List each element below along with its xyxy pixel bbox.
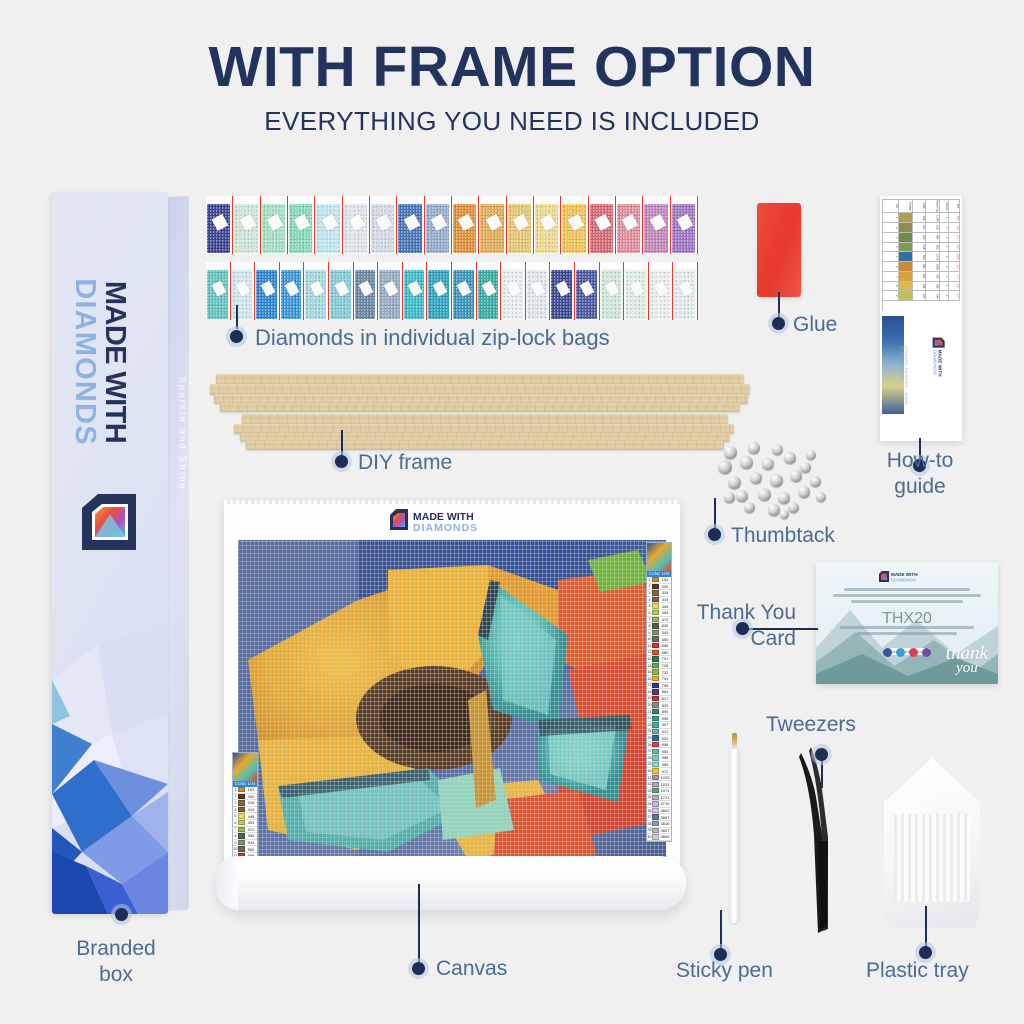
color-list-row: 331071 bbox=[647, 788, 671, 795]
tiktok-icon bbox=[922, 648, 931, 657]
zip-lock-bag bbox=[671, 196, 698, 254]
guide-cell-boxes: 1 bbox=[940, 243, 949, 253]
guide-cell-dmc: 400 bbox=[913, 233, 927, 243]
color-list-thumbnail-left bbox=[233, 753, 257, 781]
zip-lock-bag bbox=[343, 196, 370, 254]
color-row-swatch bbox=[652, 801, 659, 806]
page-subtitle: EVERYTHING YOU NEED IS INCLUDED bbox=[0, 106, 1024, 137]
label-glue: Glue bbox=[793, 312, 837, 338]
label-thank-you-card: Thank You Card bbox=[672, 600, 796, 652]
callout-dot-tweezers bbox=[815, 748, 828, 761]
color-row-swatch bbox=[652, 617, 659, 622]
color-row-swatch bbox=[652, 603, 659, 608]
guide-cell-dmc: 168 bbox=[913, 213, 927, 223]
thumbtack bbox=[748, 442, 760, 454]
color-list-row: 23907 bbox=[647, 722, 671, 729]
thumbtack-head bbox=[762, 458, 774, 470]
color-row-code: 300 bbox=[245, 794, 257, 799]
zip-lock-bag bbox=[550, 262, 575, 320]
label-how-to-guide: How-to guide bbox=[862, 448, 978, 500]
thumbtack-head bbox=[768, 504, 780, 516]
guide-cell-no: 5 bbox=[883, 252, 899, 262]
callout-dot-branded-box bbox=[115, 908, 128, 921]
color-row-code: 954 bbox=[659, 749, 671, 754]
color-row-code: 550 bbox=[245, 847, 257, 852]
guide-table-row: 451883214.2 bbox=[883, 243, 960, 253]
color-row-swatch bbox=[652, 735, 659, 740]
color-list-row: 15732 bbox=[647, 669, 671, 676]
color-row-code: 3802 bbox=[659, 808, 671, 813]
guide-cell-swatch bbox=[899, 282, 913, 292]
color-row-code: 543 bbox=[659, 630, 671, 635]
thank-you-card: MADE WITH DIAMONDS THX20 @madewithdiamon… bbox=[816, 562, 998, 684]
zip-lock-bag bbox=[280, 262, 305, 320]
zip-lock-bag bbox=[261, 196, 288, 254]
guide-cell-qty: 128 bbox=[926, 223, 940, 233]
color-row-code: 318 bbox=[659, 590, 671, 595]
color-row-code: 152 bbox=[245, 787, 257, 792]
color-row-code: 1071 bbox=[659, 788, 671, 793]
zip-lock-bag bbox=[231, 262, 256, 320]
guide-header-cell: NO. bbox=[883, 200, 899, 213]
thumbtack bbox=[772, 444, 783, 455]
color-row-code: 1721 bbox=[659, 795, 671, 800]
color-row-code: 3827 bbox=[659, 828, 671, 833]
card-thank-you-script: thank you bbox=[946, 646, 988, 676]
color-list-thumbnail-right bbox=[647, 543, 671, 571]
color-row-swatch bbox=[238, 846, 245, 851]
color-row-code: 741 bbox=[659, 676, 671, 681]
color-row-code: 318 bbox=[245, 800, 257, 805]
color-row-code: 959 bbox=[659, 762, 671, 767]
guide-cell-wt: 9.3 bbox=[949, 262, 960, 272]
guide-cell-boxes: 1 bbox=[940, 291, 949, 301]
plastic-tray bbox=[884, 758, 980, 928]
canvas-rolled-edge bbox=[216, 856, 686, 910]
thumbtack-head bbox=[728, 476, 741, 489]
guide-cell-no: 6 bbox=[883, 262, 899, 272]
label-plastic-tray: Plastic tray bbox=[866, 958, 969, 984]
thumbtack-head bbox=[798, 486, 810, 498]
color-list-row: 20825 bbox=[647, 702, 671, 709]
color-list-row: 17796 bbox=[647, 683, 671, 690]
color-row-swatch bbox=[238, 827, 245, 832]
guide-header-cell: DMC bbox=[913, 200, 927, 213]
thumbtack-head bbox=[788, 502, 799, 513]
guide-cell-wt: 6.8 bbox=[949, 213, 960, 223]
thumbtack-head bbox=[750, 472, 762, 484]
color-list-row: 11656 bbox=[647, 643, 671, 650]
color-list-row: 10550 bbox=[233, 846, 257, 853]
color-list-row: 22906 bbox=[647, 715, 671, 722]
zip-lock-bag bbox=[378, 262, 403, 320]
color-list-row: 24912 bbox=[647, 729, 671, 736]
box-brand-text: MADE WITH DIAMONDS bbox=[90, 252, 130, 472]
guide-cell-no: 7 bbox=[883, 272, 899, 282]
thumbtack bbox=[810, 476, 821, 487]
guide-table-row: 55902,144210.8 bbox=[883, 252, 960, 262]
thumbtack bbox=[724, 492, 735, 503]
color-list-row: 9543 bbox=[647, 630, 671, 637]
guide-cell-wt: 1.5 bbox=[949, 282, 960, 292]
color-row-code: 3806 bbox=[659, 834, 671, 839]
guide-cell-swatch bbox=[899, 262, 913, 272]
label-thumbtack: Thumbtack bbox=[731, 523, 835, 549]
leader-tweezers bbox=[821, 760, 823, 788]
svg-text:DIAMONDS: DIAMONDS bbox=[891, 577, 916, 582]
color-row-swatch bbox=[652, 768, 659, 773]
thumbtack bbox=[758, 488, 771, 501]
color-list-row: 14728 bbox=[647, 663, 671, 670]
sticky-pen bbox=[728, 733, 741, 929]
color-row-swatch bbox=[652, 676, 659, 681]
guide-cell-swatch bbox=[899, 243, 913, 253]
color-row-swatch bbox=[652, 663, 659, 668]
color-list-row: 5445 bbox=[647, 603, 671, 610]
guide-header-cell: Symbol bbox=[899, 200, 913, 213]
thumbtack-head bbox=[718, 460, 732, 474]
label-branded-box: Branded box bbox=[46, 936, 186, 988]
thumbtack bbox=[768, 504, 780, 516]
zip-lock-bag bbox=[206, 196, 233, 254]
color-list-row: 3318 bbox=[647, 590, 671, 597]
color-list-row: 25920 bbox=[647, 735, 671, 742]
color-list-row: 4414 bbox=[233, 807, 257, 814]
color-row-code: 453 bbox=[659, 610, 671, 615]
zip-lock-bag bbox=[255, 262, 280, 320]
box-tagline: Sparkle and Shine bbox=[177, 373, 188, 494]
color-row-code: 550 bbox=[659, 637, 671, 642]
zip-lock-bag bbox=[600, 262, 625, 320]
thumbtack bbox=[770, 474, 783, 487]
color-row-swatch bbox=[652, 656, 659, 661]
guide-cell-qty: 1,344 bbox=[926, 213, 940, 223]
guide-cell-swatch bbox=[899, 213, 913, 223]
guide-cell-dmc: 371 bbox=[913, 223, 927, 233]
thumbtack-head bbox=[780, 510, 789, 519]
zip-lock-bag bbox=[575, 262, 600, 320]
color-list-row: 21890 bbox=[647, 709, 671, 716]
how-to-guide: NO.SymbolDMCRound QtyBoxesWT11681,34416.… bbox=[880, 196, 962, 441]
color-list-row: 19817 bbox=[647, 696, 671, 703]
guide-cell-dmc: 946 bbox=[913, 282, 927, 292]
color-row-swatch bbox=[652, 650, 659, 655]
guide-cell-qty: 298 bbox=[926, 282, 940, 292]
color-row-swatch bbox=[652, 729, 659, 734]
leader-diamond-bags bbox=[236, 305, 238, 329]
guide-cell-no: 9 bbox=[883, 291, 899, 301]
color-row-swatch bbox=[238, 813, 245, 818]
color-row-code: 1012 bbox=[659, 782, 671, 787]
leader-canvas bbox=[418, 884, 420, 962]
color-row-code: 958 bbox=[659, 755, 671, 760]
color-row-code: 796 bbox=[659, 683, 671, 688]
thumbtack-head bbox=[758, 488, 771, 501]
color-row-code: 535 bbox=[659, 623, 671, 628]
color-row-code: 3715 bbox=[659, 801, 671, 806]
color-list-row: 383816 bbox=[647, 821, 671, 828]
color-list-row: 27954 bbox=[647, 748, 671, 755]
color-list-row: 3318 bbox=[233, 800, 257, 807]
guide-cell-qty: 2,144 bbox=[926, 252, 940, 262]
zip-lock-bag bbox=[233, 196, 260, 254]
thumbtack-head bbox=[790, 470, 802, 482]
svg-text:MADE WITH: MADE WITH bbox=[938, 350, 943, 377]
guide-table-row: 237112810.6 bbox=[883, 223, 960, 233]
color-list-row: 4414 bbox=[647, 597, 671, 604]
color-list-row: 2300 bbox=[233, 794, 257, 801]
branded-box-side: Sparkle and Shine bbox=[168, 196, 189, 911]
color-row-swatch bbox=[652, 755, 659, 760]
thumbtack-head bbox=[816, 492, 826, 502]
thumbtack-head bbox=[736, 490, 748, 502]
leader-plastic-tray bbox=[925, 906, 927, 948]
guide-table-row: 761334011.7 bbox=[883, 272, 960, 282]
canvas-sheet: MADE WITH DIAMONDS bbox=[224, 500, 680, 868]
thumbtack-head bbox=[772, 444, 783, 455]
thumbtack bbox=[718, 460, 732, 474]
guide-header-cell: Round Qty bbox=[926, 200, 940, 213]
color-row-swatch bbox=[652, 782, 659, 787]
thumbtack bbox=[780, 510, 789, 519]
thumbtack bbox=[750, 472, 762, 484]
color-list-row: 5445 bbox=[233, 813, 257, 820]
guide-cell-boxes: 2 bbox=[940, 262, 949, 272]
glue-item bbox=[757, 203, 801, 297]
color-list-row: 18854 bbox=[647, 689, 671, 696]
color-row-swatch bbox=[652, 821, 659, 826]
thumbtack-head bbox=[770, 474, 783, 487]
color-row-code: 680 bbox=[659, 650, 671, 655]
callout-dot-glue bbox=[772, 317, 785, 330]
color-row-swatch bbox=[652, 590, 659, 595]
color-list-row: 6453 bbox=[233, 820, 257, 827]
box-brand-line2: DIAMONDS bbox=[70, 252, 100, 472]
thumbtack bbox=[798, 486, 810, 498]
zip-lock-bag bbox=[534, 196, 561, 254]
card-message bbox=[830, 588, 984, 606]
color-list-right: Color List 11522300331844145445645374728… bbox=[646, 542, 672, 842]
color-row-code: 817 bbox=[659, 696, 671, 701]
color-row-swatch bbox=[652, 795, 659, 800]
color-row-code: 535 bbox=[245, 833, 257, 838]
color-list-rows-right: 1152230033184414544564537472853595431055… bbox=[647, 577, 671, 841]
color-list-row: 13701 bbox=[647, 656, 671, 663]
tray-ribs bbox=[894, 814, 970, 902]
zip-lock-bag bbox=[526, 262, 551, 320]
color-row-swatch bbox=[652, 808, 659, 813]
guide-cell-dmc: 518 bbox=[913, 243, 927, 253]
thumbtack bbox=[790, 470, 802, 482]
thumbtack-head bbox=[784, 452, 796, 464]
guide-table-header: NO.SymbolDMCRound QtyBoxesWT bbox=[883, 200, 960, 213]
color-row-code: 728 bbox=[659, 663, 671, 668]
color-row-code: 972 bbox=[659, 769, 671, 774]
guide-table-row: 340048412.4 bbox=[883, 233, 960, 243]
guide-cell-qty: 340 bbox=[926, 272, 940, 282]
guide-cell-swatch bbox=[899, 272, 913, 282]
zip-lock-bag bbox=[589, 196, 616, 254]
color-row-swatch bbox=[652, 643, 659, 648]
artwork-diamond-grid bbox=[238, 540, 666, 862]
facebook-icon bbox=[883, 648, 892, 657]
zip-lock-bag bbox=[329, 262, 354, 320]
svg-text:DIAMONDS: DIAMONDS bbox=[932, 350, 937, 375]
color-row-swatch bbox=[652, 762, 659, 767]
pinterest-icon bbox=[909, 648, 918, 657]
thumbtack bbox=[788, 502, 799, 513]
color-list-row: 12680 bbox=[647, 650, 671, 657]
guide-cell-wt: 1.7 bbox=[949, 272, 960, 282]
color-row-code: 732 bbox=[659, 670, 671, 675]
guide-table-row: 6581185829.3 bbox=[883, 262, 960, 272]
color-row-swatch bbox=[238, 840, 245, 845]
guide-cell-swatch bbox=[899, 291, 913, 301]
canvas-item: MADE WITH DIAMONDS bbox=[224, 500, 680, 920]
branded-box: Sparkle and Shine MADE WITH bbox=[52, 192, 190, 914]
color-row-swatch bbox=[238, 820, 245, 825]
color-row-swatch bbox=[238, 807, 245, 812]
guide-table-row: 964734411.7 bbox=[883, 291, 960, 301]
label-sticky-pen: Sticky pen bbox=[676, 958, 773, 984]
zip-lock-bag bbox=[561, 196, 588, 254]
color-list-row: 16741 bbox=[647, 676, 671, 683]
zip-lock-bag bbox=[479, 196, 506, 254]
color-row-swatch bbox=[652, 749, 659, 754]
diy-frame bbox=[208, 372, 756, 456]
guide-cell-no: 1 bbox=[883, 213, 899, 223]
guide-cell-boxes: 1 bbox=[940, 213, 949, 223]
label-canvas: Canvas bbox=[436, 956, 507, 982]
zip-lock-bag bbox=[649, 262, 674, 320]
thumbtack bbox=[728, 476, 741, 489]
color-list-title-right: Color List bbox=[647, 571, 671, 577]
color-row-swatch bbox=[238, 787, 245, 792]
color-row-swatch bbox=[652, 630, 659, 635]
diamond-bags-row-1 bbox=[206, 196, 698, 254]
color-list-row: 29959 bbox=[647, 762, 671, 769]
color-row-code: 3857 bbox=[659, 815, 671, 820]
zip-lock-bag bbox=[206, 262, 231, 320]
guide-cell-dmc: 613 bbox=[913, 272, 927, 282]
poster-root: WITH FRAME OPTION EVERYTHING YOU NEED IS… bbox=[0, 0, 1024, 1024]
guide-cell-no: 2 bbox=[883, 223, 899, 233]
zip-lock-bag bbox=[624, 262, 649, 320]
color-row-swatch bbox=[238, 833, 245, 838]
color-row-swatch bbox=[652, 669, 659, 674]
card-message-2 bbox=[830, 626, 984, 638]
guide-cell-qty: 1858 bbox=[926, 262, 940, 272]
guide-header-cell: Boxes bbox=[940, 200, 949, 213]
guide-table-row: 11681,34416.8 bbox=[883, 213, 960, 223]
pen-body bbox=[730, 747, 739, 923]
color-row-code: 946 bbox=[659, 742, 671, 747]
guide-header-cell: WT bbox=[949, 200, 960, 213]
color-list-title-left: Color List bbox=[233, 781, 257, 787]
guide-cell-swatch bbox=[899, 233, 913, 243]
guide-cell-boxes: 1 bbox=[940, 282, 949, 292]
zip-lock-bag bbox=[425, 196, 452, 254]
thumbtack-head bbox=[744, 502, 755, 513]
color-row-swatch bbox=[652, 716, 659, 721]
color-row-code: 656 bbox=[659, 643, 671, 648]
color-row-swatch bbox=[652, 742, 659, 747]
pen-tip bbox=[732, 733, 737, 749]
thumbtack bbox=[762, 458, 774, 470]
color-row-swatch bbox=[652, 709, 659, 714]
guide-cell-swatch bbox=[899, 223, 913, 233]
label-diy-frame: DIY frame bbox=[358, 450, 452, 476]
label-diamond-bags: Diamonds in individual zip-lock bags bbox=[255, 325, 610, 351]
svg-text:DIAMONDS: DIAMONDS bbox=[413, 522, 478, 534]
color-row-swatch bbox=[652, 610, 659, 615]
zip-lock-bag bbox=[501, 262, 526, 320]
callout-dot-canvas bbox=[412, 962, 425, 975]
color-row-code: 445 bbox=[245, 814, 257, 819]
box-polygon-pattern bbox=[52, 584, 168, 914]
guide-cell-boxes: 1 bbox=[940, 272, 949, 282]
diamond-logo-icon bbox=[78, 492, 140, 554]
callout-dot-diy-frame bbox=[335, 455, 348, 468]
color-row-swatch bbox=[652, 814, 659, 819]
zip-lock-bag bbox=[354, 262, 379, 320]
thumbtack bbox=[806, 450, 816, 460]
color-row-swatch bbox=[652, 834, 659, 839]
color-row-code: 3816 bbox=[659, 821, 671, 826]
color-row-code: 825 bbox=[659, 703, 671, 708]
leader-diy-frame bbox=[341, 430, 343, 455]
color-list-row: 1152 bbox=[647, 577, 671, 584]
zip-lock-bag bbox=[288, 196, 315, 254]
color-row-code: 854 bbox=[659, 689, 671, 694]
color-list-row: 403806 bbox=[647, 834, 671, 841]
color-row-swatch bbox=[652, 702, 659, 707]
branded-box-face: MADE WITH DIAMONDS bbox=[52, 192, 168, 914]
guide-cell-wt: 1.7 bbox=[949, 291, 960, 301]
color-row-code: 414 bbox=[659, 597, 671, 602]
callout-dot-diamond-bags bbox=[230, 330, 243, 343]
color-list-row: 311025 bbox=[647, 775, 671, 782]
zip-lock-bag bbox=[643, 196, 670, 254]
color-list-row: 321012 bbox=[647, 781, 671, 788]
color-row-code: 543 bbox=[245, 840, 257, 845]
color-row-code: 906 bbox=[659, 716, 671, 721]
tweezers-shape bbox=[798, 745, 838, 935]
color-list-row: 373857 bbox=[647, 814, 671, 821]
svg-text:MADE WITH: MADE WITH bbox=[891, 572, 918, 577]
guide-cell-dmc: 647 bbox=[913, 291, 927, 301]
leader-glue bbox=[778, 292, 780, 317]
color-row-swatch bbox=[652, 689, 659, 694]
color-row-code: 472 bbox=[245, 827, 257, 832]
guide-cell-boxes: 1 bbox=[940, 223, 949, 233]
zip-lock-bag bbox=[427, 262, 452, 320]
diamond-bags bbox=[206, 196, 698, 324]
color-row-swatch bbox=[652, 623, 659, 628]
guide-cell-wt: 0.6 bbox=[949, 223, 960, 233]
color-row-swatch bbox=[652, 722, 659, 727]
zip-lock-bag bbox=[616, 196, 643, 254]
zip-lock-bag bbox=[397, 196, 424, 254]
leader-thumbtack bbox=[714, 498, 716, 528]
guide-subtitle: DIAMOND PAINTING - MADE WITH DIAMONDS bbox=[900, 346, 908, 416]
guide-color-table: NO.SymbolDMCRound QtyBoxesWT11681,34416.… bbox=[882, 199, 960, 311]
thumbtack-head bbox=[740, 456, 753, 469]
guide-cell-wt: 4.2 bbox=[949, 243, 960, 253]
guide-cell-dmc: 590 bbox=[913, 252, 927, 262]
zip-lock-bag bbox=[452, 262, 477, 320]
box-brand-line1: MADE WITH bbox=[100, 252, 130, 472]
